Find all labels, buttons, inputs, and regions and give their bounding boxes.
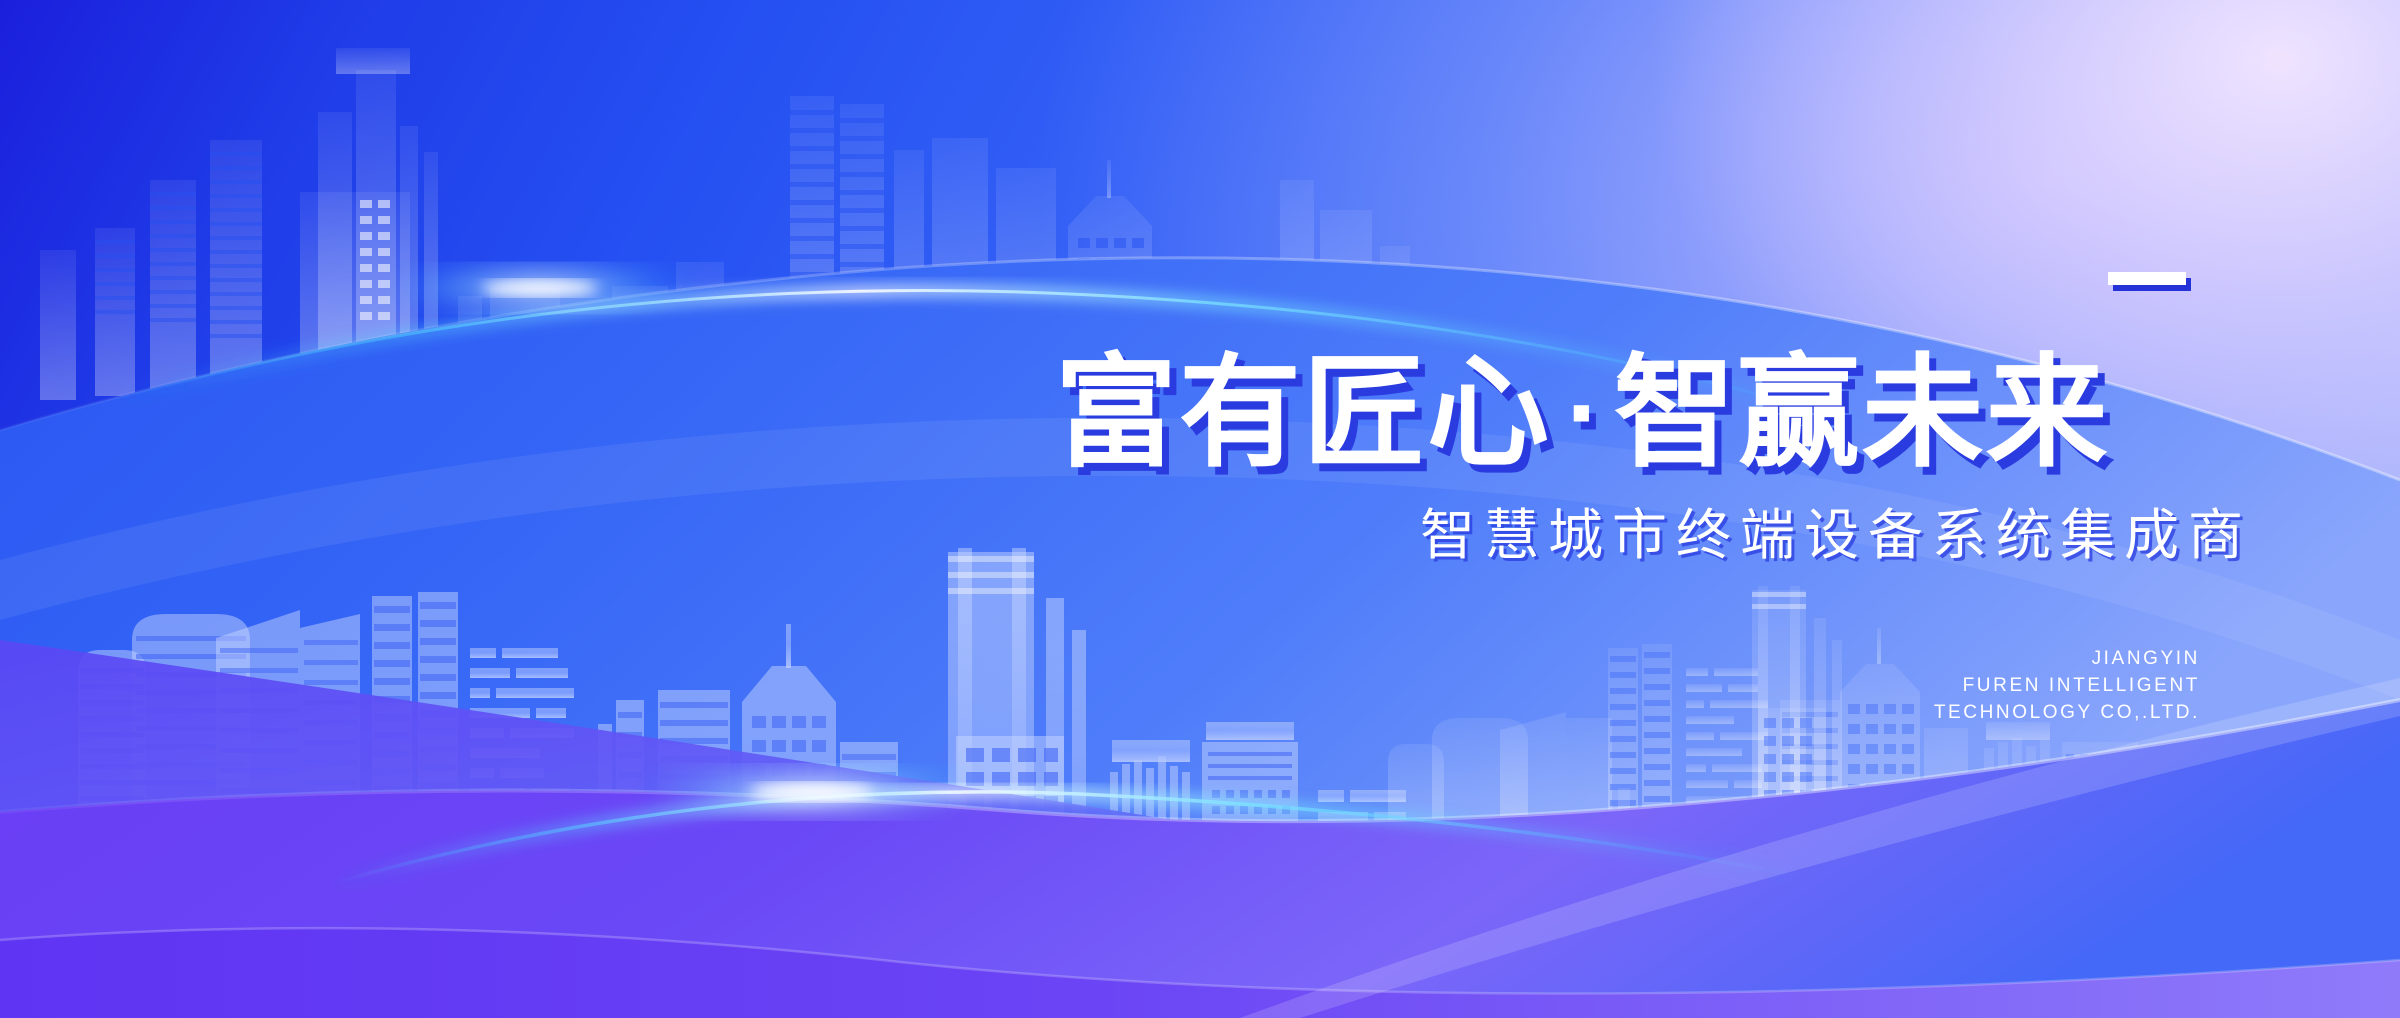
company-line-2: FUREN INTELLIGENT — [1934, 672, 2200, 699]
company-english-name: JIANGYIN FUREN INTELLIGENT TECHNOLOGY CO… — [1934, 645, 2200, 726]
company-line-3: TECHNOLOGY CO,.LTD. — [1934, 699, 2200, 726]
headline: 富有匠心·智赢未来 — [1055, 352, 2215, 474]
accent-dash-icon — [2108, 272, 2186, 285]
subtitle: 智慧城市终端设备系统集成商 — [1420, 508, 2252, 563]
company-line-1: JIANGYIN — [1934, 645, 2200, 672]
marketing-banner: 富有匠心·智赢未来 智慧城市终端设备系统集成商 JIANGYIN FUREN I… — [0, 0, 2400, 1018]
headline-separator-dot: · — [1551, 364, 1614, 464]
headline-left: 富有匠心 — [1055, 342, 1551, 484]
headline-right: 智赢未来 — [1614, 342, 2110, 484]
text-content: 富有匠心·智赢未来 智慧城市终端设备系统集成商 JIANGYIN FUREN I… — [0, 0, 2400, 1018]
